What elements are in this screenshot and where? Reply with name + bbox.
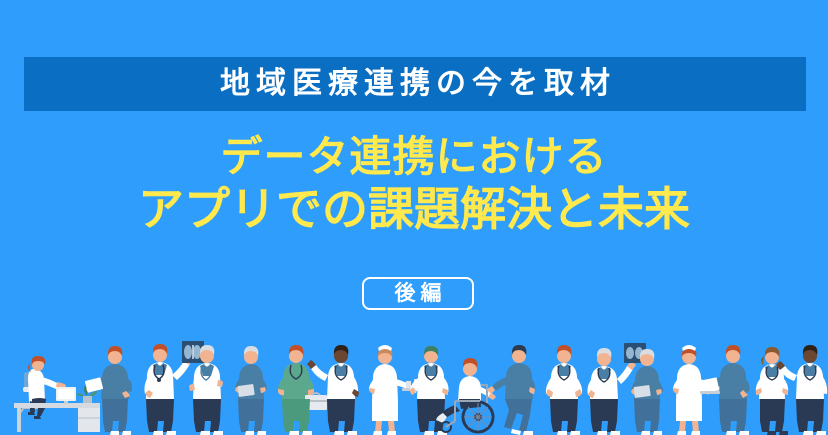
medical-staff-lineup-illustration — [0, 335, 828, 435]
illustration-svg — [0, 335, 828, 435]
eyebrow-text: 地域医療連携の今を取材 — [214, 69, 616, 99]
part-badge-label: 後編 — [390, 283, 447, 304]
status-badge-part: 後編 — [362, 277, 474, 310]
eyebrow-banner: 地域医療連携の今を取材 — [24, 57, 806, 111]
headline-line-1: データ連携における — [0, 133, 828, 180]
promo-banner-stage: 地域医療連携の今を取材 データ連携における アプリでの課題解決と未来 後編 — [0, 0, 828, 435]
page-title: データ連携における アプリでの課題解決と未来 — [0, 133, 828, 236]
headline-line-2: アプリでの課題解決と未来 — [0, 184, 828, 236]
